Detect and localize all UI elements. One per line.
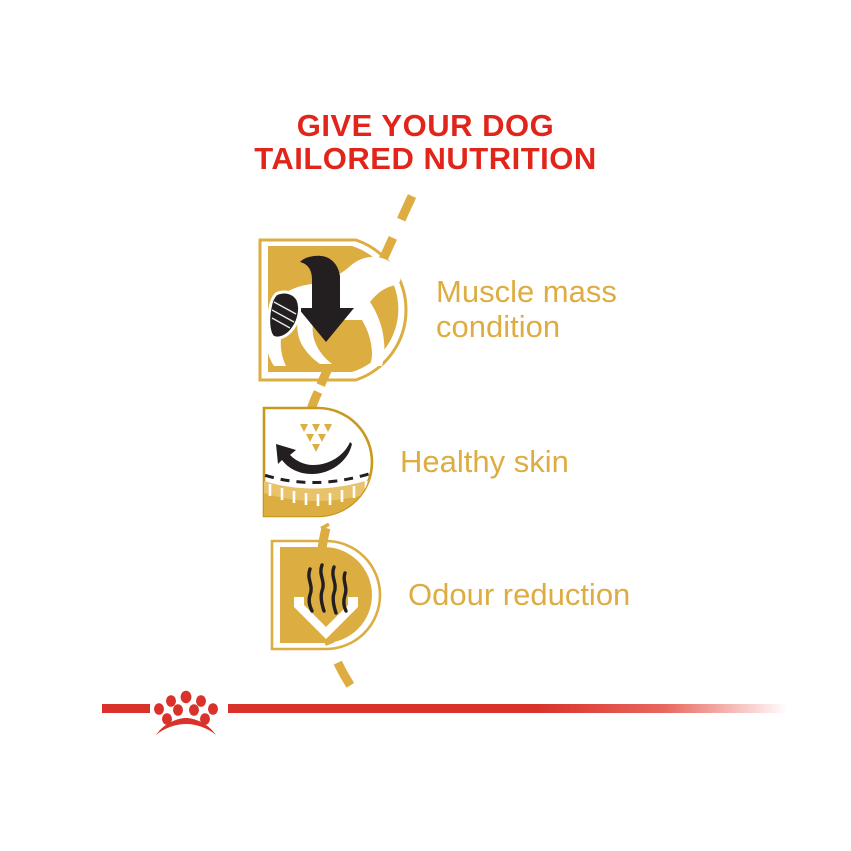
feature-label-muscle-mass: Muscle mass condition [436,275,617,344]
footer-rule-left [102,704,150,713]
royal-canin-crown-logo [148,690,224,738]
poster-canvas: GIVE YOUR DOG TAILORED NUTRITION [0,0,851,851]
feature-label-odour-reduction: Odour reduction [408,578,630,613]
footer-brand-bar [0,690,851,750]
muscle-mass-dog-icon [252,232,412,384]
odour-reduction-icon [266,535,386,655]
footer-rule-right [228,704,788,713]
title-line-2: TAILORED NUTRITION [0,143,851,176]
page-title: GIVE YOUR DOG TAILORED NUTRITION [0,110,851,176]
healthy-skin-icon [256,400,380,524]
feature-label-healthy-skin: Healthy skin [400,445,569,480]
feature-row-healthy-skin: Healthy skin [256,400,569,524]
title-line-1: GIVE YOUR DOG [0,110,851,143]
feature-row-muscle-mass: Muscle mass condition [252,232,617,384]
feature-row-odour-reduction: Odour reduction [266,535,630,655]
